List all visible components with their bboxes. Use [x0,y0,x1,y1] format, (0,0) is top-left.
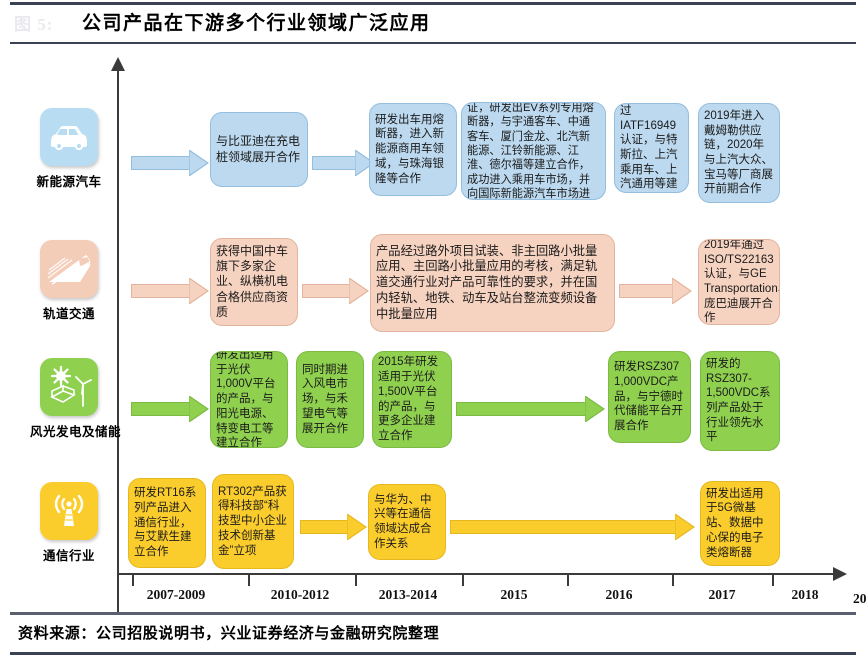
milestone-text: 2015年研发适用于光伏1,500V平台的产品，与更多企业建立合作 [378,355,446,443]
axis-tick-label: 2017 [709,587,736,603]
milestone-text: 产品经过路外项目试装、非主回路小批量应用、主回路小批量应用的考核，满足轨道交通行… [376,244,609,323]
milestone-box[interactable]: 研发出适用于5G微基站、数据中心保的电子类熔断器 [700,481,780,566]
horizontal-axis-arrow-icon [833,567,847,581]
axis-tick [132,575,134,586]
horizontal-axis [117,573,835,575]
axis-tick [355,575,357,586]
milestone-box[interactable]: 2019年进入戴姆勒供应链，2020年与上汽大众、宝马等厂商展开前期合作 [698,103,780,203]
flow-arrow [302,278,368,304]
milestone-box[interactable]: 研发出适用于光伏1,000V平台的产品，与阳光电源、特变电工等建立合作 [210,351,288,448]
milestone-box[interactable]: 2015年研发适用于光伏1,500V平台的产品，与更多企业建立合作 [372,351,452,448]
train-icon [40,240,98,298]
axis-tick-label: 2019至今 [853,587,866,607]
flow-arrow [131,396,209,422]
flow-arrow [131,278,209,304]
milestone-box[interactable]: RT302产品获得科技部“科技型中小企业技术创新基金”立项 [212,474,294,569]
title-underline [10,42,856,44]
milestone-text: 研发RT16系列产品进入通信行业，与艾默生建立合作 [134,486,200,560]
milestone-box[interactable]: 2016年通过TS16949认证，研发出EV系列专用熔断器，与宇通客车、中通客车… [461,102,606,200]
flow-arrow [131,150,209,176]
milestone-text: 2018 年 通过IATF16949认证，与特斯拉、上汽乘用车、上汽通用等建立合… [620,103,683,193]
milestone-box[interactable]: 产品经过路外项目试装、非主回路小批量应用、主回路小批量应用的考核，满足轨道交通行… [370,234,615,332]
axis-tick [772,575,774,586]
milestone-text: RT302产品获得科技部“科技型中小企业技术创新基金”立项 [218,485,288,559]
axis-tick [248,575,250,586]
figure-root: 图 5: 公司产品在下游多个行业领域广泛应用 2007-2009 2010-20… [0,0,866,658]
milestone-box[interactable]: 研发RT16系列产品进入通信行业，与艾默生建立合作 [128,478,206,568]
milestone-box[interactable]: 与比亚迪在充电桩领域展开合作 [210,112,308,187]
axis-tick [567,575,569,586]
chart-canvas: 2007-2009 2010-2012 2013-2014 2015 2016 … [0,46,866,611]
antenna-icon [40,482,98,540]
sidebar-item-label: 通信行业 [30,545,108,564]
axis-tick [462,575,464,586]
vertical-axis [117,68,119,613]
flow-arrow [456,396,604,422]
axis-tick-label: 2007-2009 [147,587,206,603]
milestone-box[interactable]: 与华为、中兴等在通信领域达成合作关系 [368,484,446,560]
axis-tick-label: 2015 [501,587,528,603]
axis-tick [672,575,674,586]
axis-tick-label: 2018 [792,587,819,603]
milestone-text: 与比亚迪在充电桩领域展开合作 [216,134,302,165]
milestone-text: 与华为、中兴等在通信领域达成合作关系 [374,493,440,552]
page-title: 公司产品在下游多个行业领域广泛应用 [82,8,431,35]
milestone-box[interactable]: 研发RSZ307 1,000VDC产品，与宁德时代储能平台开展合作 [608,351,691,443]
milestone-text: 研发的RSZ307-1,500VDC系列产品处于行业领先水平 [706,357,774,445]
milestone-text: 研发出适用于5G微基站、数据中心保的电子类熔断器 [706,487,774,561]
axis-tick-label: 2016 [606,587,633,603]
milestone-text: 同时期进入风电市场，与禾望电气等展开合作 [302,363,358,437]
flow-arrow [450,514,694,540]
sidebar-item-label: 新能源汽车 [30,171,108,190]
milestone-box[interactable]: 研发的RSZ307-1,500VDC系列产品处于行业领先水平 [700,351,780,451]
bottom-rule [10,652,856,655]
milestone-text: 研发RSZ307 1,000VDC产品，与宁德时代储能平台开展合作 [614,360,685,434]
car-icon [40,108,98,166]
milestone-text: 2019年通过ISO/TS22163认证，与GE Transportation、… [704,239,774,325]
milestone-text: 2016年通过TS16949认证，研发出EV系列专用熔断器，与宇通客车、中通客车… [467,102,600,200]
flow-arrow [619,278,691,304]
sidebar-item-label: 轨道交通 [30,303,108,322]
milestone-box[interactable]: 获得中国中车旗下多家企业、纵横机电合格供应商资质 [210,238,298,326]
sidebar-item-energy[interactable]: 风光发电及储能 [30,358,108,440]
axis-tick-label: 2010-2012 [271,587,330,603]
milestone-text: 2019年进入戴姆勒供应链，2020年与上汽大众、宝马等厂商展开前期合作 [704,109,774,197]
solar-wind-icon [40,358,98,416]
figure-number: 图 5: [14,10,53,35]
milestone-box[interactable]: 2019年通过ISO/TS22163认证，与GE Transportation、… [698,239,780,325]
sidebar-item-vehicle[interactable]: 新能源汽车 [30,108,108,190]
sidebar-item-communication[interactable]: 通信行业 [30,482,108,564]
milestone-text: 研发出车用熔断器，进入新能源商用车领域，与珠海银隆等合作 [375,113,451,187]
milestone-text: 获得中国中车旗下多家企业、纵横机电合格供应商资质 [216,244,292,321]
sidebar-item-rail[interactable]: 轨道交通 [30,240,108,322]
milestone-box[interactable]: 研发出车用熔断器，进入新能源商用车领域，与珠海银隆等合作 [369,103,457,196]
milestone-box[interactable]: 2018 年 通过IATF16949认证，与特斯拉、上汽乘用车、上汽通用等建立合… [614,103,689,193]
milestone-text: 研发出适用于光伏1,000V平台的产品，与阳光电源、特变电工等建立合作 [216,351,282,448]
milestone-box[interactable]: 同时期进入风电市场，与禾望电气等展开合作 [296,351,364,448]
source-note: 资料来源：公司招股说明书，兴业证券经济与金融研究院整理 [18,622,439,643]
source-top-rule [10,612,856,615]
sidebar-item-label: 风光发电及储能 [30,421,108,440]
top-rule [10,2,856,5]
flow-arrow [312,150,374,176]
flow-arrow [300,514,366,540]
vertical-axis-arrow-icon [111,57,125,71]
axis-tick-label: 2013-2014 [379,587,438,603]
